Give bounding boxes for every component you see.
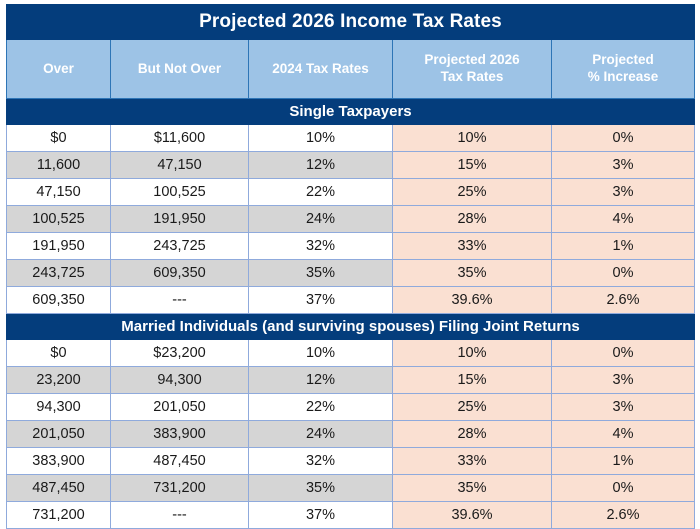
cell-pct-increase: 3%	[552, 179, 695, 206]
cell-but-not-over: $11,600	[111, 125, 249, 152]
cell-but-not-over: 94,300	[111, 367, 249, 394]
cell-but-not-over: 383,900	[111, 421, 249, 448]
column-header-line-1: Projected	[592, 52, 654, 67]
table-row: 94,300201,05022%25%3%	[7, 394, 695, 421]
cell-rate-2024: 22%	[249, 394, 393, 421]
cell-pct-increase: 3%	[552, 152, 695, 179]
cell-rate-2026: 10%	[393, 125, 552, 152]
table-title-row: Projected 2026 Income Tax Rates	[7, 5, 695, 40]
cell-rate-2024: 32%	[249, 233, 393, 260]
cell-pct-increase: 3%	[552, 367, 695, 394]
cell-but-not-over: ---	[111, 502, 249, 529]
cell-over: 383,900	[7, 448, 111, 475]
cell-pct-increase: 0%	[552, 125, 695, 152]
cell-rate-2024: 35%	[249, 475, 393, 502]
cell-but-not-over: 191,950	[111, 206, 249, 233]
cell-over: 243,725	[7, 260, 111, 287]
cell-but-not-over: ---	[111, 287, 249, 314]
cell-rate-2024: 35%	[249, 260, 393, 287]
cell-rate-2026: 10%	[393, 340, 552, 367]
table-row: 731,200---37%39.6%2.6%	[7, 502, 695, 529]
cell-rate-2026: 25%	[393, 394, 552, 421]
column-header-projected-percent-increase: Projected % Increase	[552, 40, 695, 99]
cell-rate-2026: 28%	[393, 421, 552, 448]
column-header-over: Over	[7, 40, 111, 99]
cell-over: 23,200	[7, 367, 111, 394]
cell-rate-2026: 35%	[393, 475, 552, 502]
cell-over: 11,600	[7, 152, 111, 179]
cell-rate-2024: 32%	[249, 448, 393, 475]
cell-rate-2024: 12%	[249, 152, 393, 179]
table-row: 609,350---37%39.6%2.6%	[7, 287, 695, 314]
cell-but-not-over: 47,150	[111, 152, 249, 179]
cell-rate-2024: 37%	[249, 502, 393, 529]
tax-table-container: Projected 2026 Income Tax Rates Over But…	[0, 0, 700, 481]
table-row: 100,525191,95024%28%4%	[7, 206, 695, 233]
cell-rate-2024: 24%	[249, 421, 393, 448]
cell-pct-increase: 4%	[552, 421, 695, 448]
section-title-married-joint: Married Individuals (and surviving spous…	[7, 314, 695, 340]
cell-but-not-over: 100,525	[111, 179, 249, 206]
column-header-projected-2026-tax-rates: Projected 2026 Tax Rates	[393, 40, 552, 99]
cell-over: 201,050	[7, 421, 111, 448]
cell-rate-2026: 25%	[393, 179, 552, 206]
cell-but-not-over: 201,050	[111, 394, 249, 421]
cell-rate-2024: 10%	[249, 125, 393, 152]
cell-rate-2026: 28%	[393, 206, 552, 233]
column-header-line-2: % Increase	[588, 69, 659, 84]
cell-rate-2026: 35%	[393, 260, 552, 287]
cell-over: 47,150	[7, 179, 111, 206]
cell-over: $0	[7, 125, 111, 152]
page-title: Projected 2026 Income Tax Rates	[7, 5, 695, 40]
cell-rate-2026: 15%	[393, 152, 552, 179]
cell-rate-2026: 39.6%	[393, 502, 552, 529]
cell-but-not-over: 487,450	[111, 448, 249, 475]
table-row: 47,150100,52522%25%3%	[7, 179, 695, 206]
cell-rate-2026: 33%	[393, 448, 552, 475]
column-header-line-1: Projected 2026	[424, 52, 519, 67]
cell-pct-increase: 4%	[552, 206, 695, 233]
cell-pct-increase: 2.6%	[552, 502, 695, 529]
table-row: 191,950243,72532%33%1%	[7, 233, 695, 260]
cell-over: 191,950	[7, 233, 111, 260]
cell-rate-2026: 15%	[393, 367, 552, 394]
cell-over: 731,200	[7, 502, 111, 529]
section-title-single: Single Taxpayers	[7, 99, 695, 125]
column-header-row: Over But Not Over 2024 Tax Rates Project…	[7, 40, 695, 99]
table-row: $0$11,60010%10%0%	[7, 125, 695, 152]
cell-over: 100,525	[7, 206, 111, 233]
cell-rate-2024: 12%	[249, 367, 393, 394]
table-row: $0$23,20010%10%0%	[7, 340, 695, 367]
table-head: Projected 2026 Income Tax Rates Over But…	[7, 5, 695, 99]
table-body: Single Taxpayers$0$11,60010%10%0%11,6004…	[7, 99, 695, 529]
cell-pct-increase: 1%	[552, 233, 695, 260]
cell-rate-2024: 22%	[249, 179, 393, 206]
cell-rate-2024: 37%	[249, 287, 393, 314]
column-header-2024-tax-rates: 2024 Tax Rates	[249, 40, 393, 99]
cell-rate-2024: 10%	[249, 340, 393, 367]
cell-over: 609,350	[7, 287, 111, 314]
table-row: 383,900487,45032%33%1%	[7, 448, 695, 475]
cell-pct-increase: 0%	[552, 475, 695, 502]
table-row: 11,60047,15012%15%3%	[7, 152, 695, 179]
section-header-row: Married Individuals (and surviving spous…	[7, 314, 695, 340]
column-header-but-not-over: But Not Over	[111, 40, 249, 99]
projected-income-tax-rates-table: Projected 2026 Income Tax Rates Over But…	[6, 4, 695, 529]
cell-rate-2026: 39.6%	[393, 287, 552, 314]
cell-but-not-over: 731,200	[111, 475, 249, 502]
table-row: 487,450731,20035%35%0%	[7, 475, 695, 502]
cell-but-not-over: 609,350	[111, 260, 249, 287]
cell-but-not-over: 243,725	[111, 233, 249, 260]
cell-pct-increase: 2.6%	[552, 287, 695, 314]
section-header-row: Single Taxpayers	[7, 99, 695, 125]
cell-over: 487,450	[7, 475, 111, 502]
cell-pct-increase: 0%	[552, 340, 695, 367]
cell-rate-2024: 24%	[249, 206, 393, 233]
table-row: 201,050383,90024%28%4%	[7, 421, 695, 448]
cell-but-not-over: $23,200	[111, 340, 249, 367]
cell-pct-increase: 1%	[552, 448, 695, 475]
column-header-line-2: Tax Rates	[441, 69, 504, 84]
cell-over: $0	[7, 340, 111, 367]
table-row: 243,725609,35035%35%0%	[7, 260, 695, 287]
table-row: 23,20094,30012%15%3%	[7, 367, 695, 394]
cell-over: 94,300	[7, 394, 111, 421]
cell-rate-2026: 33%	[393, 233, 552, 260]
cell-pct-increase: 3%	[552, 394, 695, 421]
cell-pct-increase: 0%	[552, 260, 695, 287]
